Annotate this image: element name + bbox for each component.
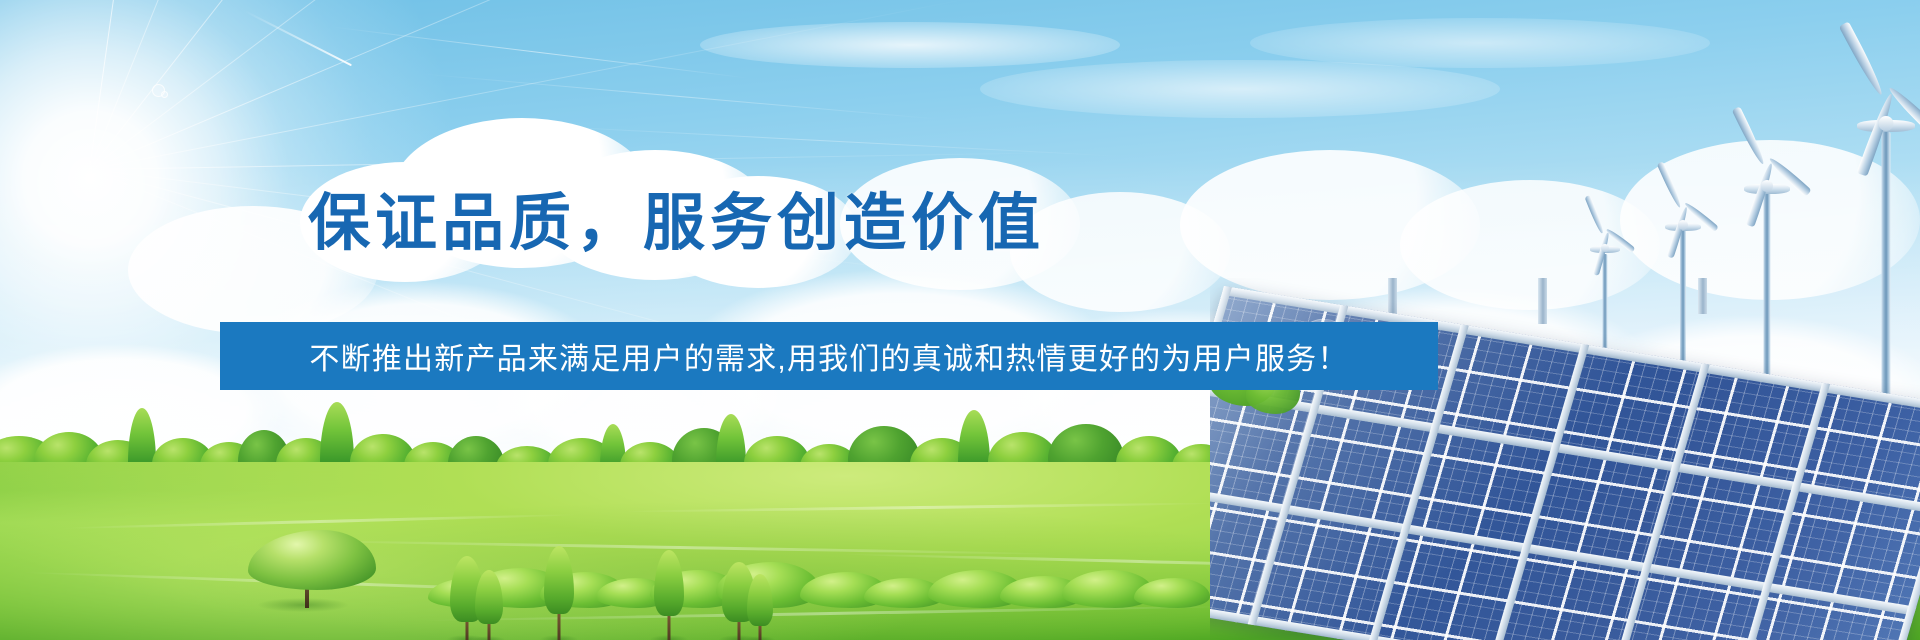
page-title: 保证品质，服务创造价值 (308, 172, 1045, 262)
subtitle-text: 不断推出新产品来满足用户的需求,用我们的真诚和热情更好的为用户服务！ (309, 334, 1348, 378)
meadow-bush-left (248, 530, 378, 612)
subtitle-bar: 不断推出新产品来满足用户的需求,用我们的真诚和热情更好的为用户服务！ (220, 322, 1438, 390)
hero-banner: 保证品质，服务创造价值 不断推出新产品来满足用户的需求,用我们的真诚和热情更好的… (0, 0, 1920, 640)
